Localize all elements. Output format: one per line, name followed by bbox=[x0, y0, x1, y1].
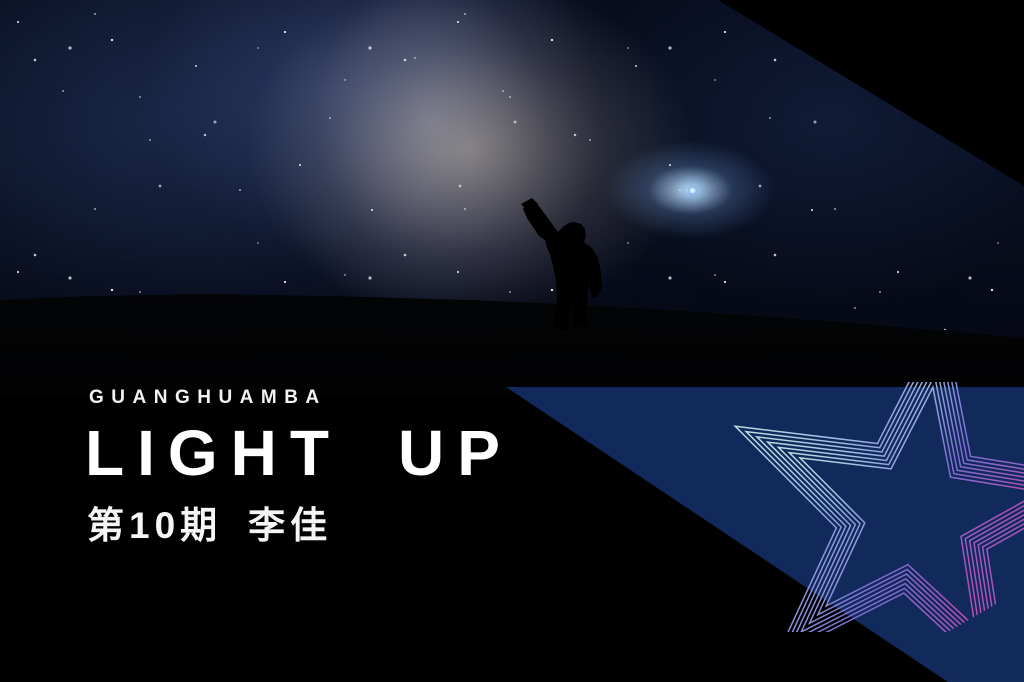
concentric-star-line-art bbox=[700, 382, 1024, 632]
bright-star-icon bbox=[688, 186, 697, 195]
poster-canvas: GUANGHUAMBA LIGHTUP 第10期李佳 bbox=[0, 0, 1024, 682]
episode-and-host: 第10期李佳 bbox=[87, 507, 725, 544]
page-title: LIGHTUP bbox=[85, 421, 725, 485]
headline-word-up: UP bbox=[398, 417, 513, 489]
kicker-label: GUANGHUAMBA bbox=[89, 388, 725, 407]
poster-text-block: GUANGHUAMBA LIGHTUP 第10期李佳 bbox=[85, 388, 725, 544]
headline-word-light: LIGHT bbox=[85, 417, 342, 489]
night-sky-photo bbox=[0, 0, 1024, 395]
person-silhouette bbox=[512, 196, 632, 332]
host-name-label: 李佳 bbox=[248, 505, 332, 546]
episode-number-label: 第10期 bbox=[87, 505, 222, 546]
